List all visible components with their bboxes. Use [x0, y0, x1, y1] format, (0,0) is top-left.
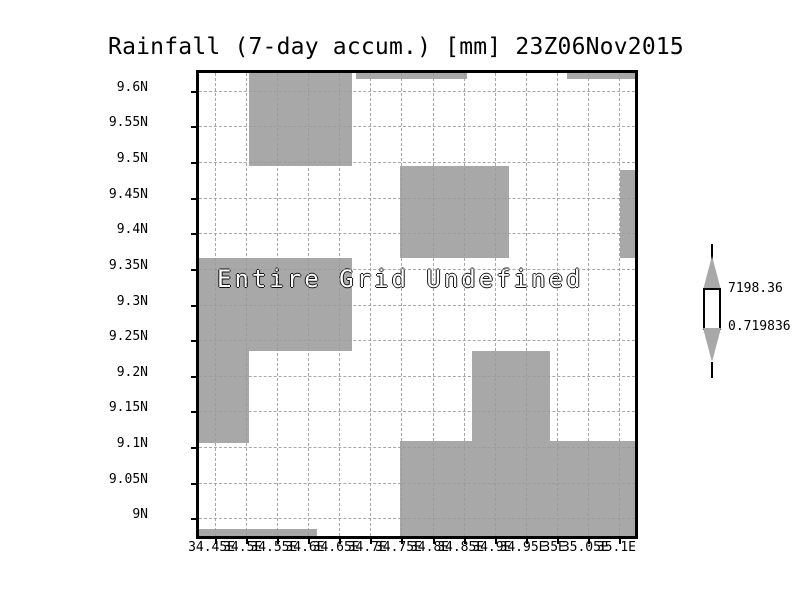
y-axis-tick-label: 9.55N — [109, 115, 148, 130]
y-axis-tick — [191, 269, 199, 271]
y-axis-tick-label: 9.3N — [117, 294, 148, 309]
gridline-horizontal — [199, 340, 635, 342]
undefined-grid-cell — [249, 73, 351, 166]
y-axis-tick — [191, 376, 199, 378]
y-axis-tick-label: 9.2N — [117, 365, 148, 380]
y-axis-tick-label: 9.6N — [117, 80, 148, 95]
plot-frame: Entire Grid Undefined — [196, 70, 638, 539]
colorbar[interactable]: 7198.36 0.719836 — [699, 258, 725, 368]
y-axis-tick-label: 9.45N — [109, 187, 148, 202]
y-axis-tick — [191, 518, 199, 520]
y-axis-tick — [191, 411, 199, 413]
undefined-grid-cell — [199, 529, 317, 536]
gridline-horizontal — [199, 162, 635, 164]
y-axis-tick-label: 9.5N — [117, 151, 148, 166]
y-axis-tick — [191, 126, 199, 128]
y-axis-tick-label: 9.4N — [117, 222, 148, 237]
gridline-horizontal — [199, 233, 635, 235]
y-axis-tick-label: 9.15N — [109, 400, 148, 415]
heatmap-canvas[interactable]: Entire Grid Undefined — [199, 73, 635, 536]
y-axis-tick-label: 9.05N — [109, 472, 148, 487]
y-axis-tick — [191, 340, 199, 342]
page-title: Rainfall (7-day accum.) [mm] 23Z06Nov201… — [0, 34, 792, 60]
colorbar-spike-bottom-icon — [711, 362, 713, 378]
y-axis-tick-label: 9N — [132, 507, 148, 522]
y-axis-tick-label: 9.1N — [117, 436, 148, 451]
undefined-grid-cell — [400, 166, 509, 259]
undefined-grid-cell — [620, 170, 635, 258]
gridline-horizontal — [199, 447, 635, 449]
gridline-horizontal — [199, 305, 635, 307]
y-axis-tick — [191, 305, 199, 307]
y-axis-tick-label: 9.25N — [109, 329, 148, 344]
y-axis-tick-label: 9.35N — [109, 258, 148, 273]
undefined-grid-cell — [199, 351, 249, 444]
gridline-horizontal — [199, 376, 635, 378]
colorbar-min-label: 0.719836 — [728, 319, 791, 334]
gridline-horizontal — [199, 411, 635, 413]
colorbar-arrow-up-icon — [703, 256, 721, 290]
undefined-grid-cell — [472, 351, 550, 444]
y-axis-tick — [191, 91, 199, 93]
gridline-horizontal — [199, 483, 635, 485]
colorbar-box — [703, 288, 721, 330]
gridline-horizontal — [199, 198, 635, 200]
y-axis-tick — [191, 447, 199, 449]
colorbar-arrow-down-icon — [703, 328, 721, 362]
colorbar-max-label: 7198.36 — [728, 281, 783, 296]
gridline-horizontal — [199, 126, 635, 128]
gridline-horizontal — [199, 518, 635, 520]
y-axis-tick — [191, 162, 199, 164]
x-axis-tick-label: 35.1E — [592, 540, 640, 555]
undefined-grid-cell — [567, 73, 635, 79]
undefined-grid-cell — [356, 73, 467, 79]
y-axis-tick — [191, 198, 199, 200]
gridline-horizontal — [199, 91, 635, 93]
gridline-horizontal — [199, 269, 635, 271]
undefined-grid-cell — [624, 529, 635, 536]
undefined-grid-cell — [400, 441, 635, 536]
y-axis-tick — [191, 233, 199, 235]
y-axis-tick — [191, 483, 199, 485]
